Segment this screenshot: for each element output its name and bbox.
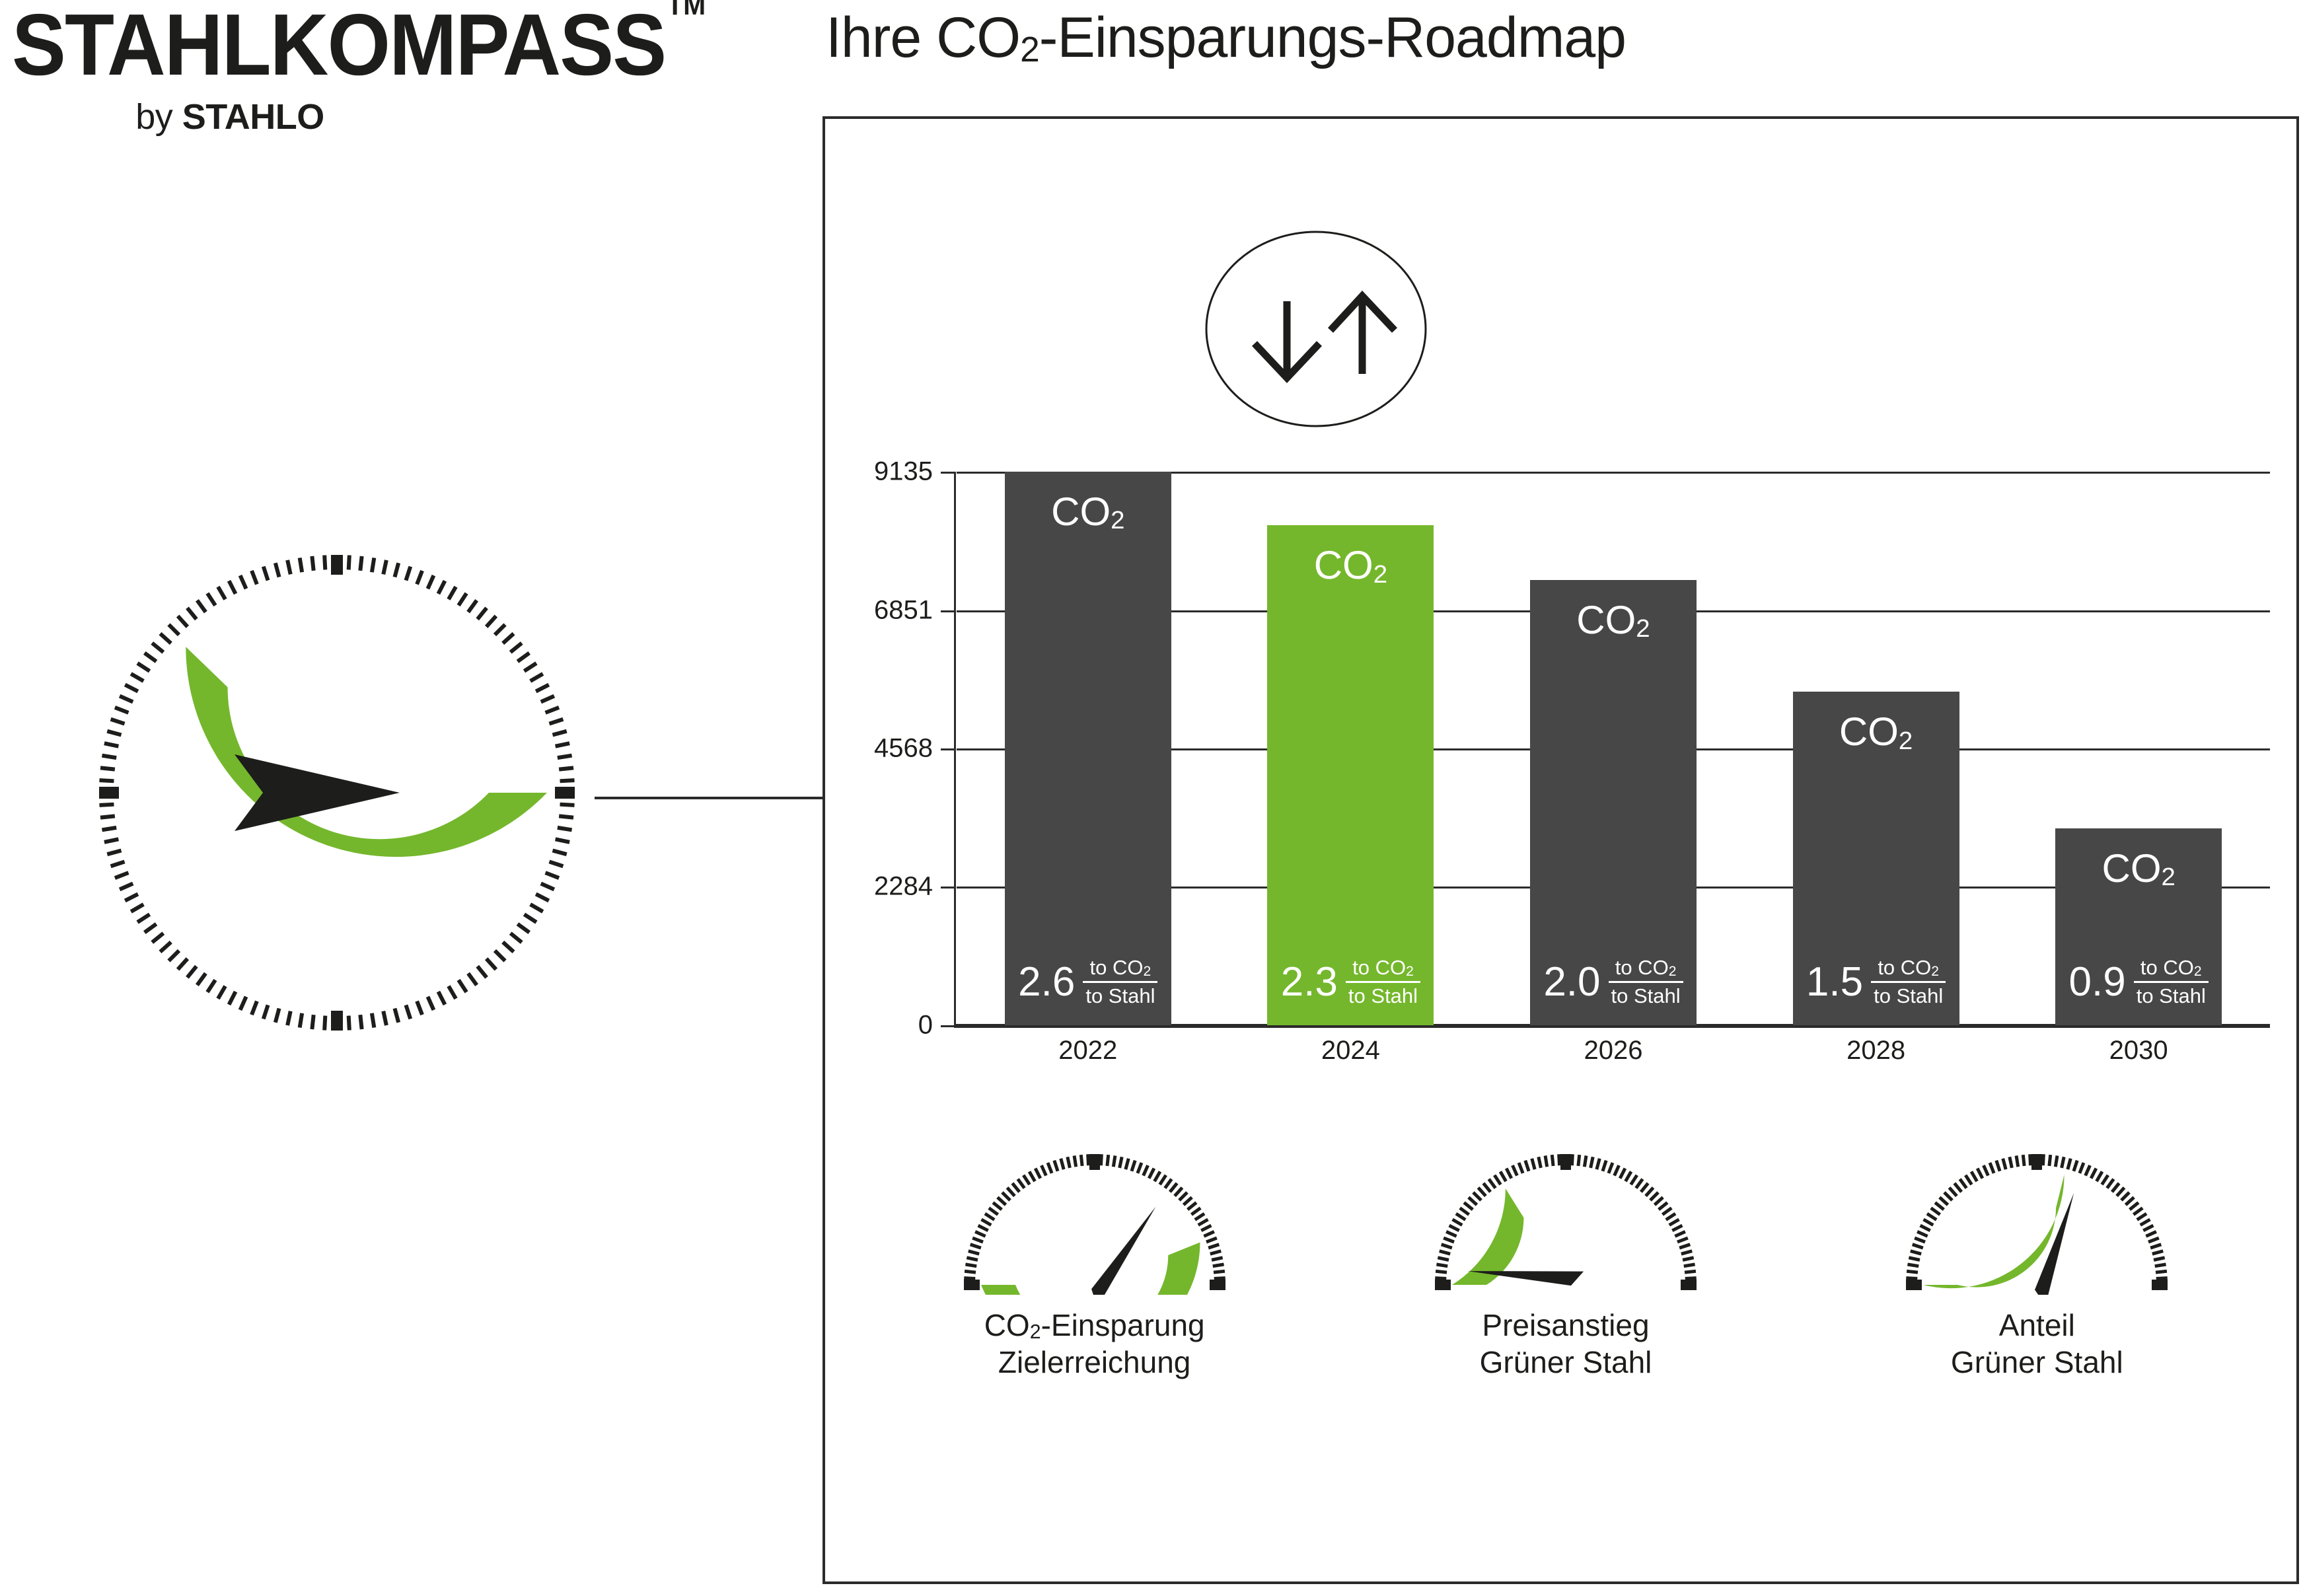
bar-ratio-rule (1083, 981, 1157, 983)
gauge-caption-line1: Preisanstieg (1480, 1307, 1652, 1344)
bar-ratio-fraction: to CO2to Stahl (1083, 957, 1157, 1008)
gauge-caption-line1: CO2-Einsparung (984, 1307, 1205, 1344)
brand-byline-prefix: by (135, 97, 182, 137)
bar-co2-label: CO2 (1839, 709, 1913, 754)
gauge-caption-line2: Grüner Stahl (1480, 1344, 1652, 1381)
gauge-caption-line1: Anteil (1951, 1307, 2123, 1344)
bar-ratio-value: 2.3 (1281, 962, 1338, 1003)
gauge-co2-einsparung-zielerreichung: CO2-EinsparungZielerreichung (859, 1143, 1330, 1513)
bar-co2-label-subscript: 2 (1899, 727, 1913, 755)
bar-ratio-denominator: to Stahl (1346, 985, 1420, 1008)
bar[interactable]: CO22.6to CO2to Stahl (1005, 472, 1171, 1025)
x-axis-tick-label: 2030 (2007, 1036, 2270, 1066)
x-axis-tick-label: 2022 (957, 1036, 1220, 1066)
page-title: Ihre CO2-Einsparungs-Roadmap (826, 5, 1626, 71)
bar-co2-label-text: CO (1839, 709, 1899, 754)
brand-name-text: STAHLKOMPASS (12, 0, 665, 93)
gauge-dial-icon (956, 1143, 1233, 1295)
x-axis-tick-label: 2026 (1482, 1036, 1745, 1066)
gauge-needle (2031, 1193, 2088, 1295)
bar-series: CO22.6to CO2to StahlCO22.3to CO2to Stahl… (957, 472, 2270, 1025)
bar-cell: CO22.6to CO2to Stahl (957, 472, 1220, 1025)
bar-ratio-numerator: to CO2 (1350, 957, 1416, 980)
bar-ratio-numerator-text: to CO (2140, 956, 2194, 979)
bar-ratio-fraction: to CO2to Stahl (1871, 957, 1946, 1008)
bar-ratio-numerator: to CO2 (1875, 957, 1942, 980)
bar-ratio-fraction: to CO2to Stahl (1346, 957, 1420, 1008)
bar-ratio-numerator-subscript: 2 (1406, 964, 1414, 979)
bar-ratio-rule (1346, 981, 1420, 983)
bar-ratio-denominator: to Stahl (1083, 985, 1157, 1008)
bar-ratio-value: 1.5 (1806, 962, 1863, 1003)
bar-ratio-fraction: to CO2to Stahl (2134, 957, 2209, 1008)
bar-co2-label-text: CO (1576, 598, 1636, 642)
down-up-arrows-icon (1204, 230, 1428, 428)
bar-ratio-numerator-text: to CO (1878, 956, 1931, 979)
bar-ratio-numerator-subscript: 2 (1931, 964, 1939, 979)
bar-ratio: 2.6to CO2to Stahl (1005, 957, 1171, 1008)
bar-ratio-numerator-text: to CO (1352, 956, 1406, 979)
compass-gauge-icon (92, 548, 581, 1037)
y-axis-line (954, 472, 956, 1025)
bar-ratio-numerator-subscript: 2 (1669, 964, 1677, 979)
gauge-caption-line2: Zielerreichung (984, 1344, 1205, 1381)
brand-lockup: STAHLKOMPASSTM by STAHLO (12, 1, 752, 137)
bar-ratio-denominator: to Stahl (1871, 985, 1946, 1008)
plot-area: CO22.6to CO2to StahlCO22.3to CO2to Stahl… (957, 472, 2270, 1025)
y-axis-tick-label: 0 (918, 1011, 933, 1040)
bar-co2-label-subscript: 2 (1373, 560, 1387, 589)
brand-name: STAHLKOMPASSTM (12, 1, 704, 89)
x-axis-labels: 20222024202620282030 (957, 1036, 2270, 1066)
gauge-caption: PreisanstiegGrüner Stahl (1480, 1307, 1652, 1381)
connector-line (595, 797, 824, 799)
bar[interactable]: CO21.5to CO2to Stahl (1793, 692, 1959, 1025)
gauge-caption: AnteilGrüner Stahl (1951, 1307, 2123, 1381)
gauge-caption-line1-prefix: Anteil (1999, 1308, 2075, 1342)
bar-ratio: 1.5to CO2to Stahl (1793, 957, 1959, 1008)
bar-ratio-value: 2.6 (1018, 962, 1075, 1003)
bar-ratio-fraction: to CO2to Stahl (1609, 957, 1683, 1008)
bar-ratio-denominator: to Stahl (1609, 985, 1683, 1008)
gauge-value-arc (981, 1243, 1200, 1295)
bar-cell: CO20.9to CO2to Stahl (2007, 472, 2270, 1025)
bar-ratio-value: 0.9 (2069, 962, 2126, 1003)
gauge-dial-icon (1898, 1143, 2175, 1295)
bar-co2-label: CO2 (1314, 542, 1387, 588)
gauge-caption-line1-prefix: CO (984, 1308, 1030, 1342)
bar-ratio-value: 2.0 (1543, 962, 1600, 1003)
bar-co2-label: CO2 (1576, 597, 1650, 643)
y-axis-tick-label: 9135 (874, 457, 933, 487)
main-compass-gauge (92, 548, 581, 1037)
y-axis-tick (941, 1025, 955, 1027)
gauge-anteil-gruener-stahl: AnteilGrüner Stahl (1802, 1143, 2273, 1513)
gauge-needle (1085, 1207, 1168, 1295)
gauge-caption-line2: Grüner Stahl (1951, 1344, 2123, 1381)
bar-ratio-numerator-subscript: 2 (1144, 964, 1151, 979)
bar-co2-label-subscript: 2 (1636, 614, 1650, 643)
gauge-preisanstieg-gruener-stahl: PreisanstiegGrüner Stahl (1330, 1143, 1801, 1513)
bar-ratio-denominator: to Stahl (2134, 985, 2209, 1008)
gauge-caption-line1-subscript: 2 (1030, 1321, 1041, 1343)
bar[interactable]: CO20.9to CO2to Stahl (2055, 828, 2222, 1025)
bar[interactable]: CO22.3to CO2to Stahl (1267, 525, 1434, 1025)
brand-byline: by STAHLO (12, 96, 448, 137)
y-axis-tick (941, 748, 955, 750)
bar-cell: CO21.5to CO2to Stahl (1745, 472, 2008, 1025)
y-axis-tick (941, 472, 955, 474)
trademark-symbol: TM (667, 0, 706, 21)
page-title-suffix: -Einsparungs-Roadmap (1039, 6, 1626, 69)
co2-bar-chart: 02284456868519135 CO22.6to CO2to StahlCO… (859, 462, 2273, 1057)
bar-co2-label-text: CO (1051, 490, 1111, 534)
page-title-subscript: 2 (1020, 30, 1039, 69)
bar-ratio-numerator: to CO2 (2138, 957, 2205, 980)
bar-ratio-numerator-text: to CO (1615, 956, 1669, 979)
y-axis-tick-label: 6851 (874, 595, 933, 625)
y-axis-tick-label: 4568 (874, 733, 933, 763)
gauge-dial-icon (1427, 1143, 1704, 1295)
bar-co2-label: CO2 (2102, 846, 2175, 891)
gauge-caption: CO2-EinsparungZielerreichung (984, 1307, 1205, 1381)
bar-ratio: 0.9to CO2to Stahl (2055, 957, 2222, 1008)
bar-ratio: 2.3to CO2to Stahl (1267, 957, 1434, 1008)
bar-ratio-rule (1609, 981, 1683, 983)
bar[interactable]: CO22.0to CO2to Stahl (1530, 580, 1697, 1025)
bar-co2-label-text: CO (2102, 846, 2161, 890)
gauge-caption-line1-suffix: -Einsparung (1041, 1308, 1205, 1342)
poster-canvas: STAHLKOMPASSTM by STAHLO Ihre CO2-Einspa… (0, 0, 2303, 1596)
x-axis-tick-label: 2028 (1745, 1036, 2008, 1066)
gauge-caption-line1-prefix: Preisanstieg (1482, 1308, 1649, 1342)
brand-byline-company: STAHLO (182, 97, 324, 137)
kpi-gauges: CO2-EinsparungZielerreichungPreisanstieg… (859, 1143, 2273, 1513)
bar-ratio-rule (2134, 981, 2209, 983)
y-axis-labels: 02284456868519135 (859, 462, 933, 1044)
bar-ratio-numerator-text: to CO (1090, 956, 1144, 979)
page-title-prefix: Ihre CO (826, 6, 1020, 69)
bar-cell: CO22.0to CO2to Stahl (1482, 472, 1745, 1025)
bar-ratio-numerator-subscript: 2 (2194, 964, 2202, 979)
bar-ratio-numerator: to CO2 (1087, 957, 1154, 980)
bar-cell: CO22.3to CO2to Stahl (1220, 472, 1482, 1025)
bar-co2-label-subscript: 2 (2161, 863, 2175, 891)
y-axis-tick (941, 610, 955, 612)
bar-ratio-rule (1871, 981, 1946, 983)
bar-co2-label-text: CO (1314, 543, 1373, 587)
bar-ratio: 2.0to CO2to Stahl (1530, 957, 1697, 1008)
bar-ratio-numerator: to CO2 (1613, 957, 1679, 980)
y-axis-tick-label: 2284 (874, 872, 933, 902)
bar-co2-label-subscript: 2 (1111, 506, 1124, 534)
x-axis-tick-label: 2024 (1220, 1036, 1482, 1066)
bar-co2-label: CO2 (1051, 489, 1124, 534)
gauge-value-arc (1452, 1188, 1523, 1285)
y-axis-tick (941, 887, 955, 889)
